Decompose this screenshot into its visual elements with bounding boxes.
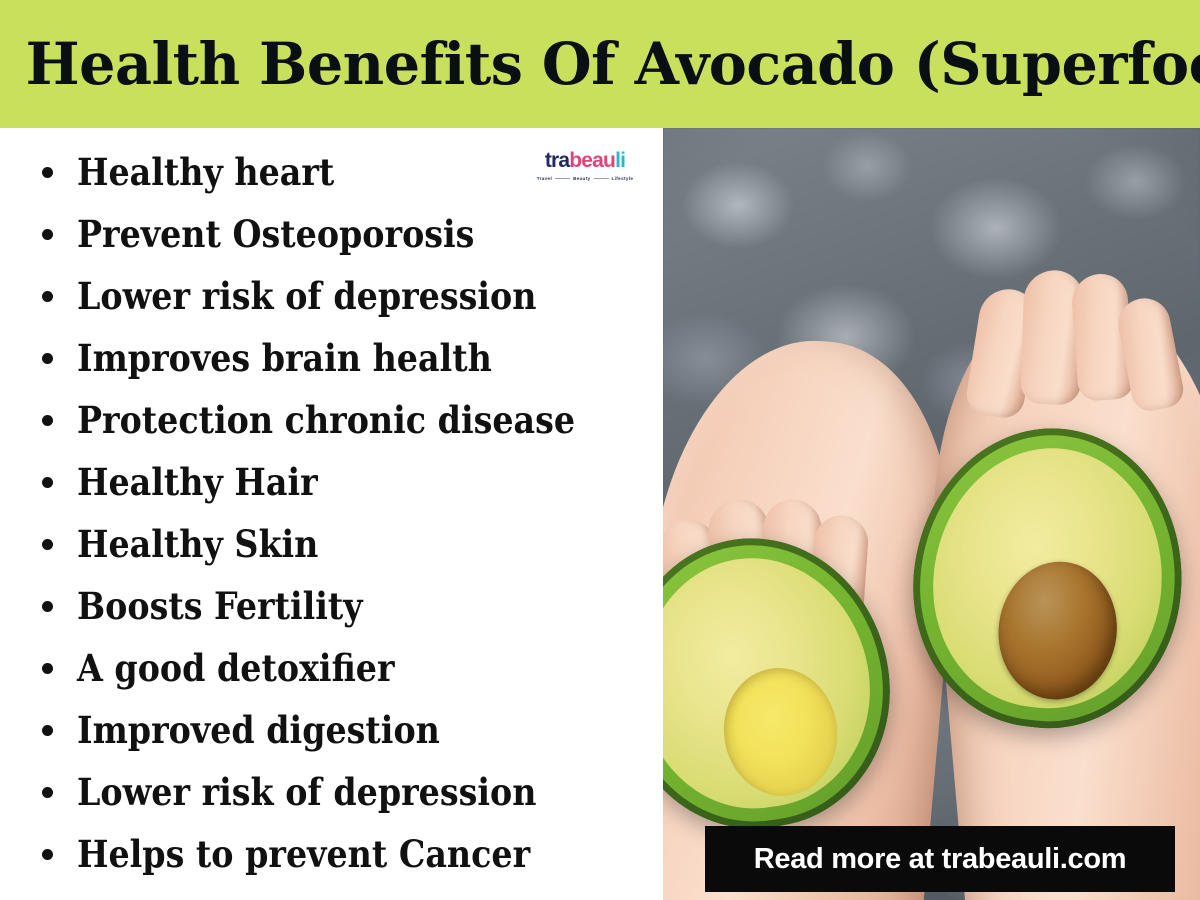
benefit-label: Boosts Fertility [77,588,363,625]
brand-logo-part-tra: tra [545,149,569,172]
bullet-dot-icon [42,167,53,178]
list-item: Improves brain health [0,340,663,402]
tagline-travel: Travel [537,176,552,181]
list-item: Protection chronic disease [0,402,663,464]
list-item: Lower risk of depression [0,278,663,340]
tagline-lifestyle: Lifestyle [612,176,634,181]
list-item: Prevent Osteoporosis [0,216,663,278]
benefit-label: Lower risk of depression [77,278,536,315]
list-item: Boosts Fertility [0,588,663,650]
infographic-root: Health Benefits Of Avocado (Superfood) H… [0,0,1200,900]
avocado-photo: Read more at trabeauli.com [663,128,1200,900]
list-item: Healthy Skin [0,526,663,588]
bullet-dot-icon [42,291,53,302]
bullet-dot-icon [42,725,53,736]
bullet-dot-icon [42,787,53,798]
read-more-banner[interactable]: Read more at trabeauli.com [705,826,1175,892]
bullet-dot-icon [42,601,53,612]
tagline-divider-icon [555,178,570,179]
benefit-label: Protection chronic disease [77,402,575,439]
benefit-label: Lower risk of depression [77,774,536,811]
benefit-label: A good detoxifier [77,650,395,687]
benefit-label: Prevent Osteoporosis [77,216,474,253]
brand-logo-tagline: Travel Beauty Lifestyle [533,176,637,181]
brand-logo-part-li: li [615,149,625,172]
benefit-label: Healthy Skin [77,526,318,563]
list-item: Healthy Hair [0,464,663,526]
list-item: Improved digestion [0,712,663,774]
benefits-list: Healthy heart Prevent Osteoporosis Lower… [0,154,663,898]
brand-logo-wordmark: trabeauli [533,150,637,171]
benefit-label: Healthy Hair [77,464,318,501]
benefit-label: Improves brain health [77,340,492,377]
list-item: A good detoxifier [0,650,663,712]
bullet-dot-icon [42,229,53,240]
read-more-label: Read more at trabeauli.com [754,843,1127,876]
bullet-dot-icon [42,663,53,674]
bullet-dot-icon [42,415,53,426]
benefits-panel: Healthy heart Prevent Osteoporosis Lower… [0,128,663,900]
brand-logo-part-beau: beau [569,149,615,172]
benefit-label: Improved digestion [77,712,440,749]
tagline-divider-icon [594,178,609,179]
bullet-dot-icon [42,849,53,860]
page-title: Health Benefits Of Avocado (Superfood) [0,35,1200,93]
bullet-dot-icon [42,477,53,488]
benefit-label: Helps to prevent Cancer [77,836,530,873]
bullet-dot-icon [42,353,53,364]
bullet-dot-icon [42,539,53,550]
header-band: Health Benefits Of Avocado (Superfood) [0,0,1200,128]
list-item: Helps to prevent Cancer [0,836,663,898]
tagline-beauty: Beauty [573,176,590,181]
benefit-label: Healthy heart [77,154,334,191]
list-item: Lower risk of depression [0,774,663,836]
brand-logo[interactable]: trabeauli Travel Beauty Lifestyle [533,150,637,181]
